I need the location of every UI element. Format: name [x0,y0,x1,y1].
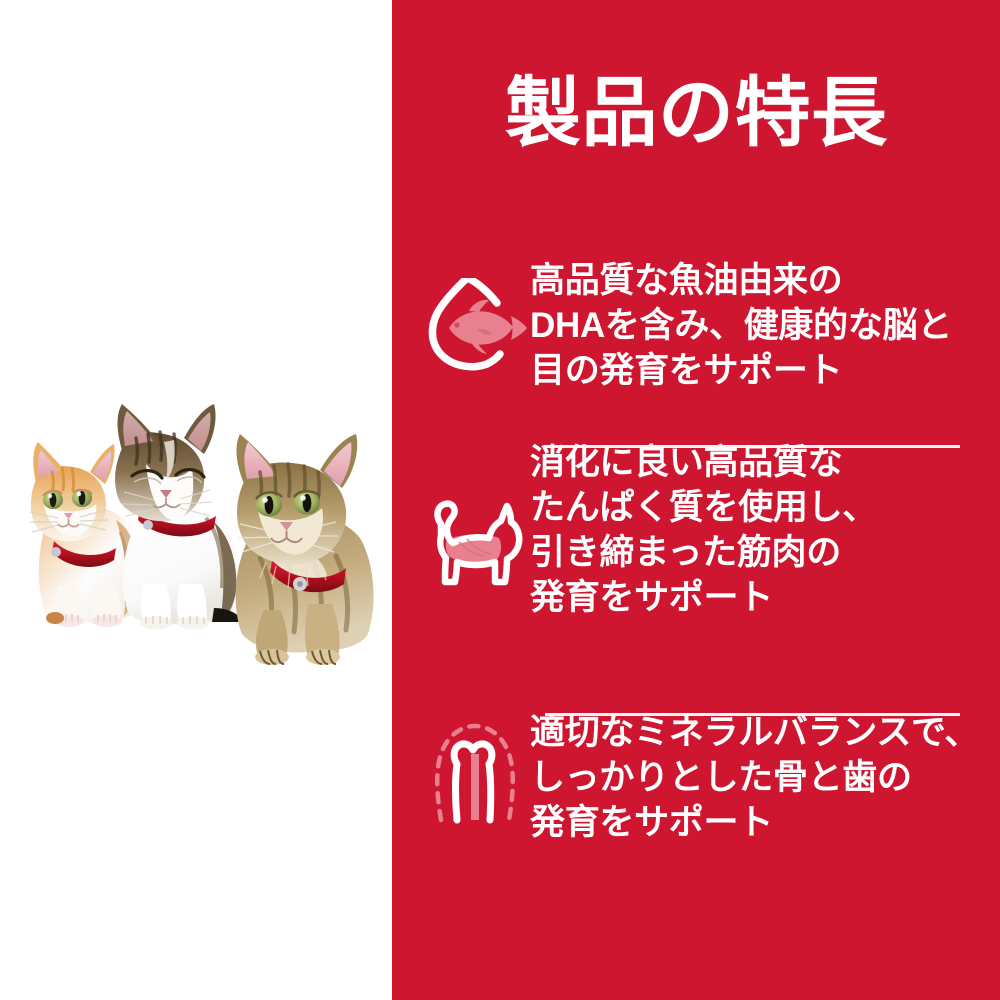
three-kittens-photo [8,372,388,672]
bone-tooth-icon [427,720,523,824]
feature-line: 目の発育をサポート [530,348,960,393]
feature-icon-slot [420,702,530,824]
feature-line: 発育をサポート [530,800,979,845]
cat-muscle-icon [423,494,527,590]
product-feature-banner: 製品の特長 [0,0,1000,1000]
feature-line: 発育をサポート [530,575,960,620]
feature-line: たんぱく質を使用し、 [530,485,960,530]
feature-text-minerals: 適切なミネラルバランスで、 しっかりとした骨と歯の 発育をサポート [530,702,979,845]
feature-icon-slot [420,250,530,378]
feature-line: 消化に良い高品質な [530,440,960,485]
feature-icon-slot [420,432,530,590]
feature-text-protein: 消化に良い高品質な たんぱく質を使用し、 引き締まった筋肉の 発育をサポート [530,432,960,620]
feature-text-dha: 高品質な魚油由来の DHAを含み、健康的な脳と 目の発育をサポート [530,250,960,393]
feature-line: DHAを含み、健康的な脳と [530,303,960,348]
page-title: 製品の特長 [505,68,925,160]
feature-item-minerals: 適切なミネラルバランスで、 しっかりとした骨と歯の 発育をサポート [392,702,1000,932]
feature-line: 適切なミネラルバランスで、 [530,710,979,755]
feature-line: 引き締まった筋肉の [530,530,960,575]
feature-line: しっかりとした骨と歯の [530,755,979,800]
photo-panel [0,0,392,1000]
feature-line: 高品質な魚油由来の [530,258,960,303]
feature-panel: 製品の特長 [392,0,1000,1000]
fish-in-droplet-icon [423,278,527,378]
feature-item-dha: 高品質な魚油由来の DHAを含み、健康的な脳と 目の発育をサポート [392,250,1000,432]
feature-list: 高品質な魚油由来の DHAを含み、健康的な脳と 目の発育をサポート [392,250,1000,932]
feature-item-protein: 消化に良い高品質な たんぱく質を使用し、 引き締まった筋肉の 発育をサポート [392,432,1000,702]
